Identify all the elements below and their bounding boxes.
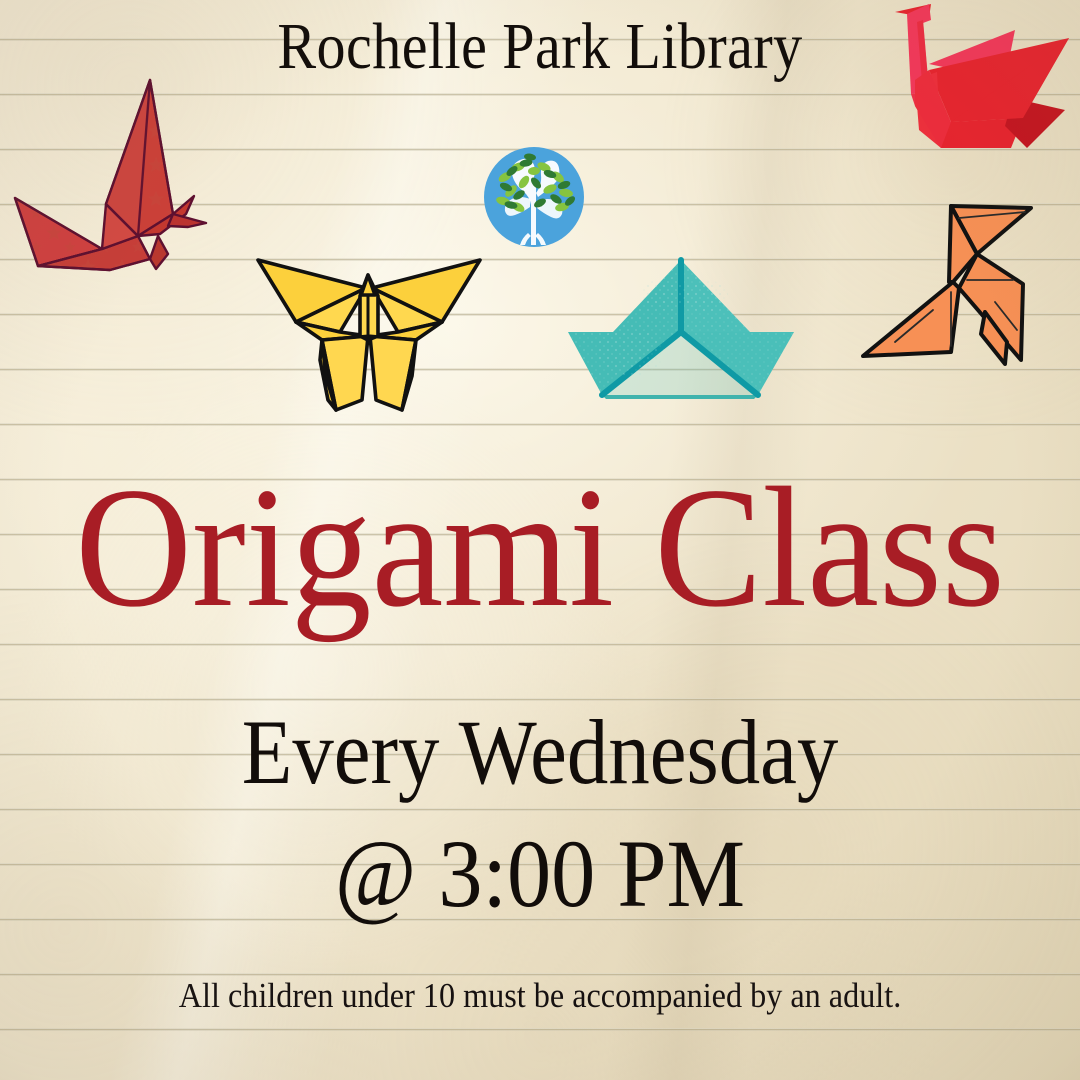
origami-crane-red-icon xyxy=(10,86,215,271)
headline-origami-class: Origami Class xyxy=(32,462,1047,634)
library-tree-logo-icon xyxy=(478,141,590,253)
ruled-line xyxy=(0,423,1080,426)
origami-boat-teal-icon xyxy=(558,252,796,400)
origami-bird-orange-icon xyxy=(855,192,1047,367)
schedule-day: Every Wednesday xyxy=(54,706,1026,798)
ruled-line xyxy=(0,1028,1080,1031)
poster-canvas: Rochelle Park Library Origami Class Ever… xyxy=(0,0,1080,1080)
page-title: Rochelle Park Library xyxy=(65,14,1015,80)
schedule-time: @ 3:00 PM xyxy=(43,826,1037,922)
disclaimer-text: All children under 10 must be accompanie… xyxy=(43,978,1037,1013)
ruled-line xyxy=(0,643,1080,646)
origami-butterfly-yellow-icon xyxy=(244,248,492,418)
ruled-line xyxy=(0,368,1080,371)
ruled-line xyxy=(0,808,1080,811)
